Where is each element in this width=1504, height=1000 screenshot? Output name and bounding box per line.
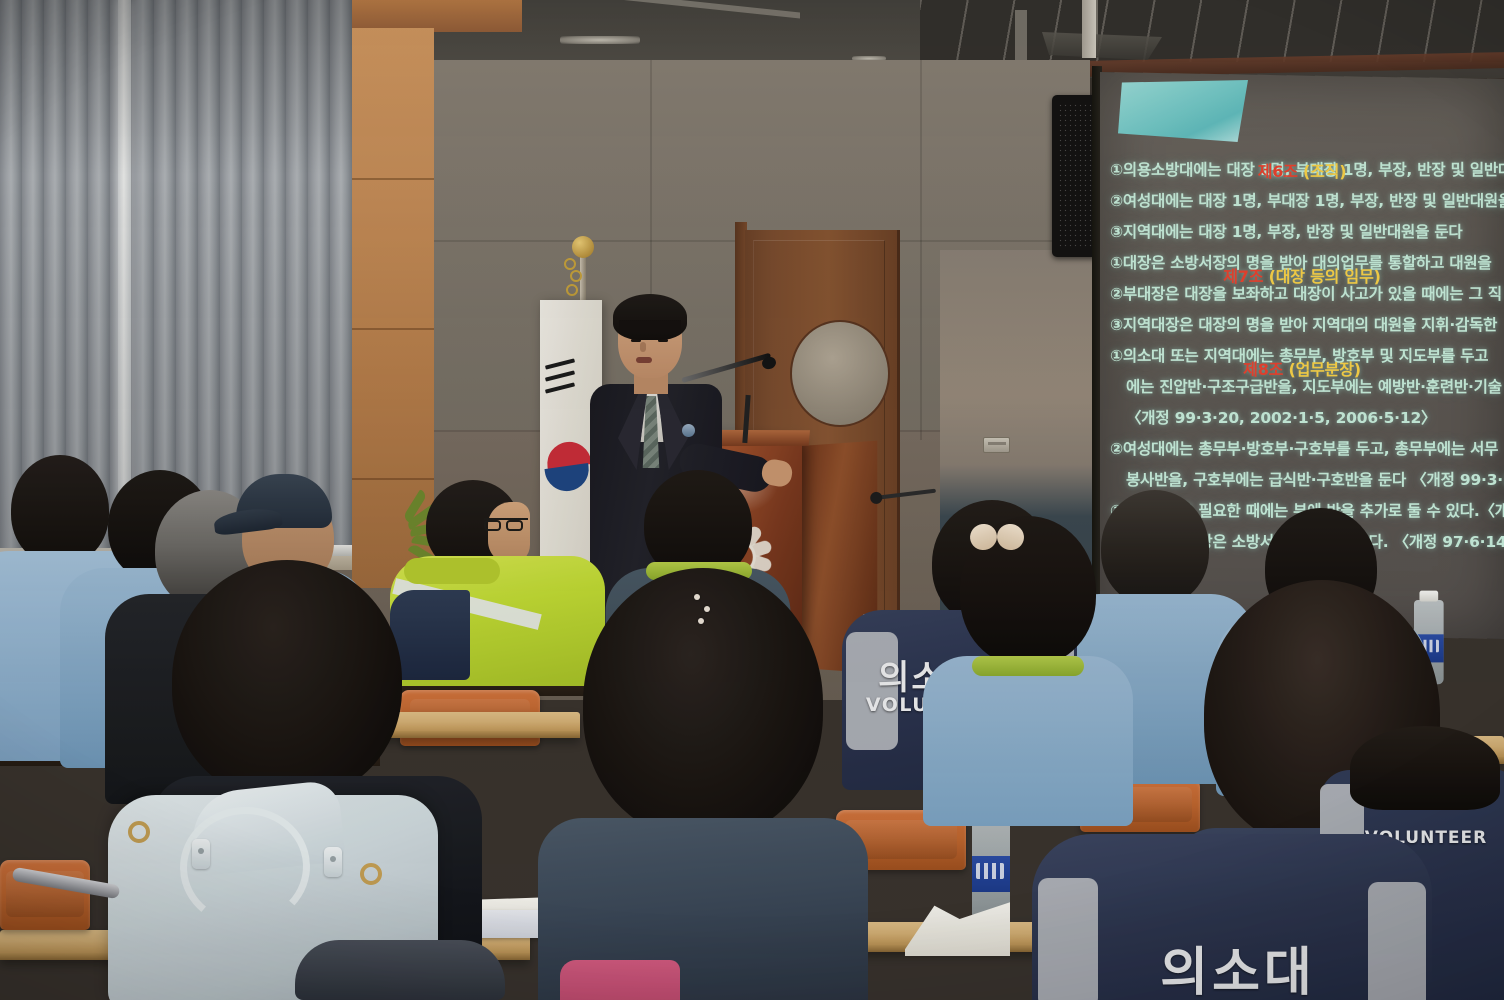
door-porthole-window (790, 320, 890, 427)
ceiling-grid (920, 0, 1504, 62)
front-volunteer-vest-attendee: 의소대 (1032, 810, 1432, 1000)
projection-content: 제6조 (조직)①의용소방대에는 대장 1명, 부대장 1명, 부장, 반장 및… (1100, 72, 1504, 552)
vest-gray-panel (1038, 878, 1098, 1000)
hair-clip (698, 618, 704, 624)
slide-body-line: ②여성대에는 대장 1명, 부대장 1명, 부장, 반장 및 일반대원을 (1110, 189, 1504, 211)
slide-body-line: ③지역대에는 대장 1명, 부장, 반장 및 일반대원을 둔다 (1110, 220, 1504, 242)
head (583, 568, 823, 838)
wall-panel-seam (330, 240, 1090, 242)
hair-clip (694, 594, 700, 600)
slide-heading-paren: (업무분장) (1289, 360, 1361, 379)
slide-heading: 제6조 (조직) (1258, 158, 1347, 182)
light-switch-plate[interactable] (983, 437, 1010, 453)
slide-body-line: 〈개정 99·3·20, 2002·1·5, 2006·5·12〉 (1110, 406, 1504, 428)
hair-clip (704, 606, 710, 612)
handbag-ring (360, 863, 382, 885)
slide-heading: 제8조 (업무분장) (1243, 356, 1361, 380)
handbag-buckle (324, 847, 342, 877)
ceiling-beam (1015, 10, 1027, 62)
presenter-lapel-badge (682, 424, 695, 437)
flag-cord (562, 256, 588, 302)
vest-gray-panel (1368, 882, 1426, 1000)
slide-body-line: 봉사반을, 구호부에는 급식반·구호반을 둔다 〈개정 99·3·20, (1110, 468, 1504, 490)
presenter-hair (613, 294, 687, 340)
lecture-hall-photo: 제6조 (조직)①의용소방대에는 대장 1명, 부대장 1명, 부장, 반장 및… (0, 0, 1504, 1000)
handbag-buckle (192, 839, 210, 869)
slide-photo (1118, 80, 1248, 142)
slide-heading-paren: (조직) (1303, 162, 1346, 181)
green-collar (972, 656, 1084, 676)
slide-text-block: 제6조 (조직)①의용소방대에는 대장 1명, 부대장 1명, 부장, 반장 및… (1100, 72, 1504, 552)
glasses (484, 518, 528, 530)
flag-finial (572, 236, 594, 258)
pink-inner-top (560, 960, 680, 1000)
open-booklet (905, 900, 1010, 956)
ceiling-downlight (560, 36, 640, 44)
face-profile (488, 502, 530, 564)
presenter-mouth (636, 357, 652, 363)
center-front-attendee (538, 568, 868, 1000)
bow-hair-attendee (938, 516, 1118, 816)
bottom-left-attendee (300, 940, 500, 1000)
projector-mount (1082, 0, 1096, 58)
slide-heading-paren: (대장 등의 임무) (1269, 267, 1381, 286)
wall-panel-seam (920, 60, 922, 440)
slide-body-line: ③지역대장은 대장의 명을 받아 지역대의 대원을 지휘·감독한 (1110, 313, 1504, 335)
handbag-ring (128, 821, 150, 843)
presenter-nose (640, 342, 646, 352)
hair-bow (970, 524, 1024, 550)
head (172, 560, 402, 800)
vest-text-korean: 의소대 (1160, 930, 1316, 1000)
water-bottle (972, 812, 1010, 920)
slide-body-line: ②여성대에는 총무부·방호부·구호부를 두고, 총무부에는 서무 (1110, 437, 1504, 459)
head (1350, 726, 1500, 810)
torso (295, 940, 505, 1000)
slide-heading: 제7조 (대장 등의 임무) (1223, 263, 1380, 287)
torso (923, 656, 1133, 826)
